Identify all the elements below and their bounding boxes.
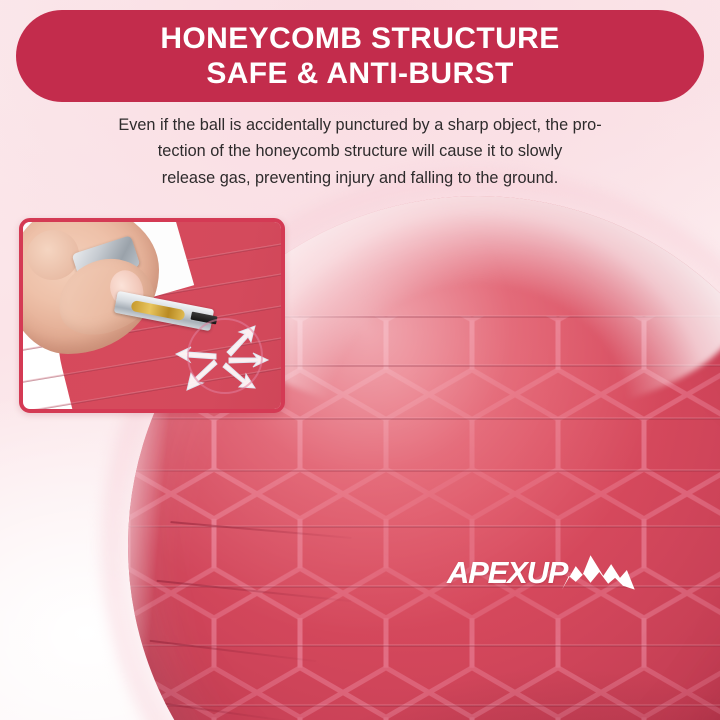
description-line-3: release gas, preventing injury and falli… <box>34 165 686 191</box>
ball-engraved-dash <box>156 580 351 602</box>
poster-canvas: APEXUP HONEYCOMB STRUCTURE SAFE & ANTI-B… <box>0 0 720 720</box>
puncture-point-circle-icon <box>187 318 263 394</box>
ball-engraved-dash <box>146 700 285 720</box>
logo-wordmark: APEXUP <box>447 557 567 588</box>
gas-release-arrows-icon <box>169 308 281 409</box>
ball-top-highlight <box>212 196 720 420</box>
ball-ridge <box>128 469 720 472</box>
ball-engraved-dash <box>150 639 317 661</box>
brand-logo: APEXUP <box>447 544 637 600</box>
ball-ridge <box>128 525 720 528</box>
description-line-1: Even if the ball is accidentally punctur… <box>34 112 686 138</box>
ball-ridge <box>128 704 720 707</box>
ball-engraved-dash <box>170 521 351 539</box>
mountain-peaks-icon <box>560 550 637 592</box>
ball-ridge <box>128 644 720 647</box>
description-line-2: tection of the honeycomb structure will … <box>34 138 686 164</box>
headline-line-2: SAFE & ANTI-BURST <box>206 57 513 91</box>
headline-banner: HONEYCOMB STRUCTURE SAFE & ANTI-BURST <box>16 10 704 102</box>
description-paragraph: Even if the ball is accidentally punctur… <box>34 112 686 191</box>
ball-ridge <box>128 417 720 420</box>
headline-line-1: HONEYCOMB STRUCTURE <box>160 22 559 56</box>
puncture-demo-photo <box>23 222 281 409</box>
puncture-demo-card <box>19 218 285 413</box>
ball-ridge <box>128 585 720 588</box>
